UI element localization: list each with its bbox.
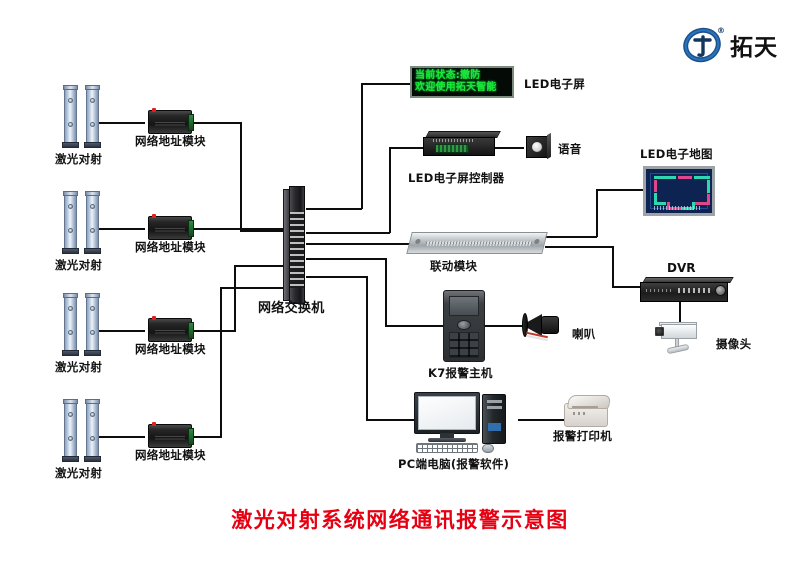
map-segment <box>694 176 710 179</box>
led-screen-controller[interactable] <box>423 131 499 157</box>
led-display-screen[interactable]: 当前状态:撤防 欢迎使用拓天智能 <box>410 66 514 98</box>
led-screen-controller-label: LED电子屏控制器 <box>408 170 504 186</box>
laser-detector-2[interactable] <box>62 189 108 251</box>
wire-switch-ledctl-v <box>389 148 391 233</box>
led-display-screen-label: LED电子屏 <box>524 76 585 92</box>
wire-module4-in <box>220 287 286 289</box>
linkage-module-label: 联动模块 <box>430 258 477 274</box>
camera-mount-base <box>667 344 690 354</box>
wire-switch-ledctl-h1 <box>306 232 390 234</box>
terminal-block-icon <box>188 114 194 131</box>
network-address-module-2[interactable] <box>148 216 192 240</box>
laser-detector-4[interactable] <box>62 397 108 459</box>
navigation-pad-icon[interactable] <box>457 320 471 330</box>
keypad-icon[interactable] <box>449 332 479 358</box>
power-led-icon <box>152 422 156 426</box>
brand-logo: ® 拓天 <box>683 26 778 64</box>
registered-mark: ® <box>717 26 725 35</box>
mouse-icon[interactable] <box>482 444 494 453</box>
wire-module1-h <box>192 122 242 124</box>
laser-detector-3-label: 激光对射 <box>55 359 102 375</box>
module-print <box>155 436 185 441</box>
alarm-printer-label: 报警打印机 <box>553 428 612 444</box>
wire-linkage-dvr-h1 <box>545 246 613 248</box>
pc-tower <box>482 394 506 444</box>
module-print <box>155 330 185 335</box>
dvr-jog-dial-icon <box>715 285 726 296</box>
wire-pc-printer <box>518 419 566 421</box>
pc-workstation-label: PC端电脑(报警软件) <box>398 456 509 472</box>
k7-alarm-host-label: K7报警主机 <box>428 365 493 381</box>
map-segment <box>654 176 676 179</box>
wire-module1-v <box>240 122 242 231</box>
pc-monitor <box>414 392 480 434</box>
voice-speaker-module-label: 语音 <box>558 141 582 157</box>
wire-switch-pc-v <box>366 276 368 420</box>
wire-switch-pc-h2 <box>366 419 414 421</box>
laser-detector-4-label: 激光对射 <box>55 465 102 481</box>
network-address-module-3-label: 网络地址模块 <box>135 341 206 357</box>
controller-indicators-icon <box>433 139 473 142</box>
dvr-recorder[interactable] <box>640 277 732 303</box>
wire-switch-linkage <box>306 243 412 245</box>
keyboard-icon[interactable] <box>416 443 478 453</box>
led-electronic-map[interactable] <box>643 166 715 216</box>
wire-module4-v <box>220 288 222 437</box>
linkage-module[interactable] <box>406 232 547 254</box>
k7-alarm-host[interactable] <box>443 290 485 362</box>
wire-module3-in <box>234 265 286 267</box>
diagram-title: 激光对射系统网络通讯报警示意图 <box>0 504 800 534</box>
tuotian-logo-icon: ® <box>683 26 723 64</box>
printer-buttons-icon <box>573 412 587 415</box>
map-caption-icon <box>654 206 702 210</box>
power-led-icon <box>152 214 156 218</box>
wire-switch-k7-h1 <box>306 258 386 260</box>
network-switch[interactable] <box>283 186 309 304</box>
cctv-camera[interactable] <box>655 322 705 356</box>
drive-bay-icon <box>487 406 502 409</box>
wire-switch-k7-v <box>385 258 387 326</box>
network-address-module-3[interactable] <box>148 318 192 342</box>
laser-detector-1-label: 激光对射 <box>55 151 102 167</box>
wire-module4-h <box>192 436 222 438</box>
paper-slot-icon <box>572 406 598 408</box>
switch-ports-icon <box>290 212 304 288</box>
wire-linkage-ledmap-h1 <box>545 236 597 238</box>
wire-linkage-ledmap-h2 <box>596 189 644 191</box>
dvr-label: DVR <box>667 261 696 275</box>
wire-switch-k7-h2 <box>385 325 443 327</box>
map-segment <box>707 180 710 193</box>
map-segment <box>678 176 692 179</box>
camera-lens-icon <box>655 327 664 336</box>
map-segment <box>654 180 657 192</box>
controller-terminal-icon <box>435 144 469 153</box>
network-address-module-1[interactable] <box>148 110 192 134</box>
cctv-camera-label: 摄像头 <box>716 336 751 352</box>
map-segment <box>695 202 710 205</box>
module-print <box>155 122 185 127</box>
alarm-host-display <box>449 296 479 316</box>
laser-detector-1[interactable] <box>62 83 108 145</box>
led-screen-line1: 当前状态:撤防 <box>415 70 509 82</box>
power-led-icon <box>152 108 156 112</box>
terminal-block-icon <box>188 428 194 445</box>
wire-k7-horn <box>485 325 525 327</box>
horn-driver-body <box>541 316 559 334</box>
wire-switch-ledscreen-h2 <box>361 83 411 85</box>
speaker-cone-icon <box>531 141 543 153</box>
pc-workstation[interactable] <box>414 392 520 454</box>
wire-module3-v <box>234 266 236 332</box>
camera-barrel <box>661 324 697 339</box>
network-address-module-1-label: 网络地址模块 <box>135 133 206 149</box>
map-segment <box>654 202 666 205</box>
linkage-terminal-strip-icon <box>425 241 532 246</box>
screw-icon <box>534 239 540 244</box>
power-led-icon <box>152 316 156 320</box>
wire-switch-ledctl-h2 <box>389 147 423 149</box>
dvr-status-leds-icon <box>646 289 672 292</box>
wire-module1-in <box>240 230 286 232</box>
led-map-label: LED电子地图 <box>640 146 713 162</box>
wire-module3-h <box>192 330 236 332</box>
brand-name: 拓天 <box>730 28 778 62</box>
network-address-module-4-label: 网络地址模块 <box>135 447 206 463</box>
monitor-screen <box>418 396 476 430</box>
voice-module-side <box>547 133 551 159</box>
laser-detector-3[interactable] <box>62 291 108 353</box>
drive-bay-icon <box>487 400 502 403</box>
screw-icon <box>415 239 421 244</box>
wire-switch-pc-h1 <box>306 276 368 278</box>
alarm-horn-speaker-label: 喇叭 <box>572 326 596 342</box>
wire-switch-ledscreen-v <box>361 84 363 209</box>
wire-linkage-dvr-v <box>612 246 614 287</box>
module-print <box>155 228 185 233</box>
alarm-horn-speaker[interactable] <box>522 310 568 340</box>
terminal-block-icon <box>188 322 194 339</box>
wire-module2-in <box>192 228 286 230</box>
diagram-canvas: ® 拓天 <box>0 0 800 579</box>
led-screen-line2: 欢迎使用拓天智能 <box>415 82 509 94</box>
wire-linkage-ledmap-v <box>596 190 598 237</box>
monitor-foot <box>428 438 466 442</box>
network-address-module-4[interactable] <box>148 424 192 448</box>
dvr-buttons-icon <box>678 288 712 293</box>
laser-detector-2-label: 激光对射 <box>55 257 102 273</box>
tower-panel-icon <box>488 423 501 431</box>
alarm-printer[interactable] <box>564 395 612 429</box>
voice-speaker-module[interactable] <box>526 136 548 158</box>
network-switch-label: 网络交换机 <box>258 297 325 316</box>
network-address-module-2-label: 网络地址模块 <box>135 239 206 255</box>
wire-switch-ledscreen-h1 <box>306 208 362 210</box>
terminal-block-icon <box>188 220 194 237</box>
